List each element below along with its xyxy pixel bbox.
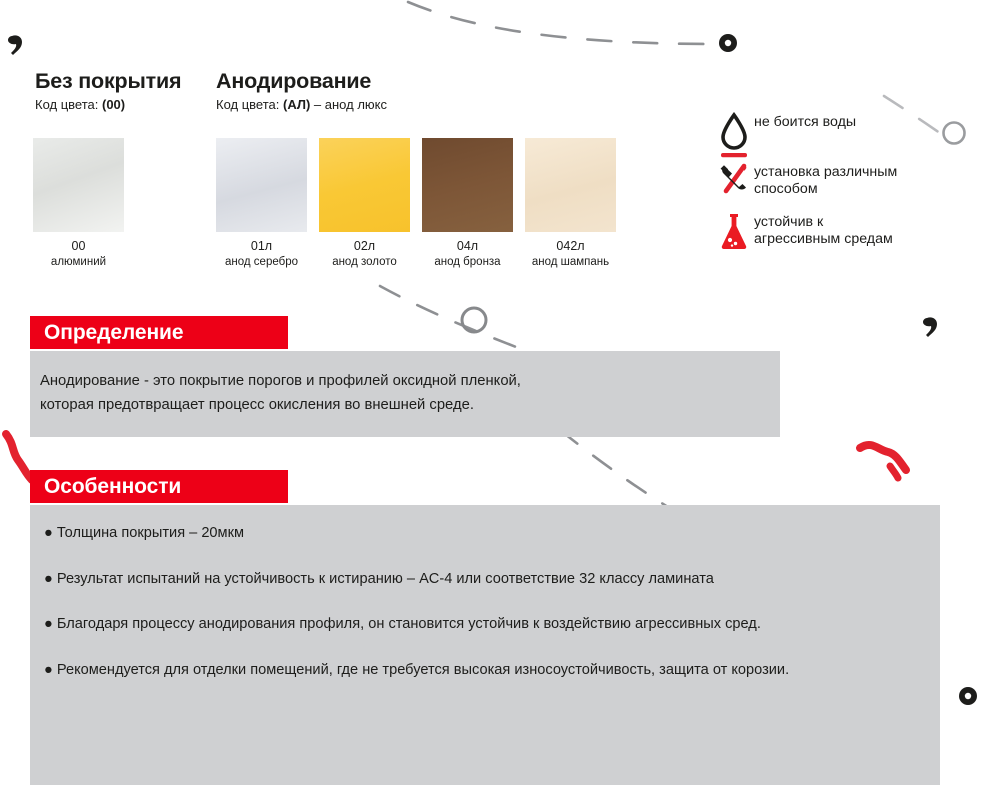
dashed-curve-lower <box>560 430 676 512</box>
swatch-name: анод шампань <box>525 256 616 268</box>
color-swatch-01l[interactable]: 01л анод серебро <box>216 138 307 232</box>
red-squiggle-top-right <box>890 466 898 478</box>
swatch-name: алюминий <box>33 256 124 268</box>
group-heading-0: Без покрытия Код цвета: (00) <box>35 70 181 112</box>
dashed-curve-top <box>408 2 716 44</box>
water-drop-icon <box>714 112 754 160</box>
swatch-label: 00 алюминий <box>33 240 124 268</box>
definition-tab-label: Определение <box>44 321 183 345</box>
red-squiggle-left <box>6 434 32 480</box>
swatch-gold <box>319 138 410 232</box>
swatch-name: анод серебро <box>216 256 307 268</box>
group-subtitle-prefix: Код цвета: <box>216 97 283 112</box>
color-swatch-02l[interactable]: 02л анод золото <box>319 138 410 232</box>
swatch-code: 02л <box>354 239 375 253</box>
group-subtitle: Код цвета: (АЛ) – анод люкс <box>216 98 387 112</box>
color-swatch-04l[interactable]: 04л анод бронза <box>422 138 513 232</box>
color-swatch-00[interactable]: 00 алюминий <box>33 138 124 232</box>
group-subtitle-suffix: – анод люкс <box>310 97 387 112</box>
ring-dark-bottom-right <box>959 687 977 705</box>
swatch-label: 02л анод золото <box>319 240 410 268</box>
feature-label: установка различным способом <box>754 162 897 198</box>
swatch-code: 00 <box>72 239 86 253</box>
swatch-silver <box>216 138 307 232</box>
definition-body: Анодирование - это покрытие порогов и пр… <box>40 370 770 418</box>
ring-gray-middle <box>462 308 486 332</box>
group-title: Анодирование <box>216 70 387 93</box>
swatch-label: 042л анод шампань <box>525 240 616 268</box>
swatch-name: анод золото <box>319 256 410 268</box>
swatch-code: 01л <box>251 239 272 253</box>
group-subtitle-code: (АЛ) <box>283 97 310 112</box>
swatch-label: 04л анод бронза <box>422 240 513 268</box>
red-squiggle-right <box>860 445 906 470</box>
group-title: Без покрытия <box>35 70 181 93</box>
feature-item-chemical: устойчив к агрессивным средам <box>714 212 893 250</box>
swatch-champagne <box>525 138 616 232</box>
group-subtitle: Код цвета: (00) <box>35 98 181 112</box>
color-swatch-042l[interactable]: 042л анод шампань <box>525 138 616 232</box>
swatch-bronze <box>422 138 513 232</box>
ring-dark-top <box>719 34 737 52</box>
feature-item-install: установка различным способом <box>714 162 897 198</box>
feature-label: устойчив к агрессивным средам <box>754 212 893 248</box>
feature-item-water: не боится воды <box>714 112 856 160</box>
list-item: ● Рекомендуется для отделки помещений, г… <box>44 659 934 682</box>
swatch-label: 01л анод серебро <box>216 240 307 268</box>
swatch-aluminium <box>33 138 124 232</box>
features-tab-label: Особенности <box>44 475 181 499</box>
ring-gray-right <box>944 123 965 144</box>
group-subtitle-prefix: Код цвета: <box>35 97 102 112</box>
list-item: ● Результат испытаний на устойчивость к … <box>44 568 934 591</box>
dashed-curve-middle <box>380 286 540 356</box>
list-item: ● Благодаря процессу анодирования профил… <box>44 613 934 636</box>
comma-mark-right <box>923 317 937 337</box>
features-list: ● Толщина покрытия – 20мкм ● Результат и… <box>44 522 934 681</box>
dashed-curve-upper-right <box>884 96 944 136</box>
list-item: ● Толщина покрытия – 20мкм <box>44 522 934 545</box>
flask-icon <box>714 212 754 250</box>
features-tab: Особенности <box>30 470 288 503</box>
group-subtitle-code: (00) <box>102 97 125 112</box>
group-heading-1: Анодирование Код цвета: (АЛ) – анод люкс <box>216 70 387 112</box>
swatch-code: 042л <box>556 239 584 253</box>
comma-mark-top-left <box>8 35 22 55</box>
swatch-name: анод бронза <box>422 256 513 268</box>
crossed-tools-icon <box>714 162 754 196</box>
swatch-code: 04л <box>457 239 478 253</box>
feature-label: не боится воды <box>754 112 856 131</box>
definition-tab: Определение <box>30 316 288 349</box>
